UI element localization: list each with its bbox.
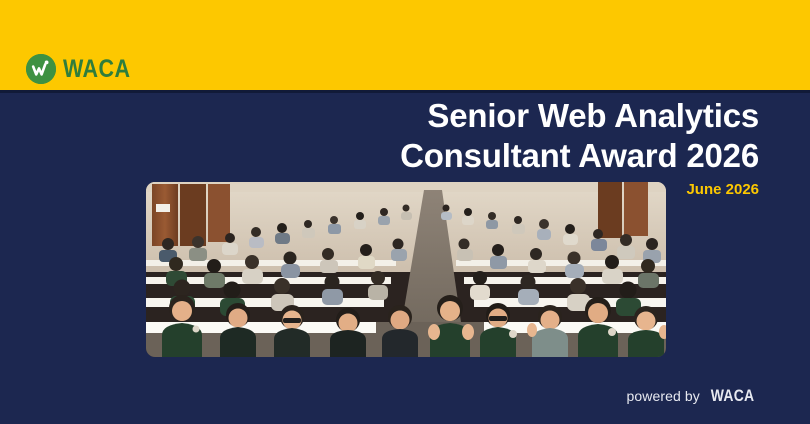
header-divider <box>0 90 810 93</box>
page-title-line-2: Consultant Award 2026 <box>239 136 759 176</box>
powered-by-label: powered by <box>626 389 699 403</box>
footer-brand-wordmark: WACA <box>711 387 755 404</box>
footer-credit: powered by WACA <box>626 387 759 404</box>
page-title-line-1: Senior Web Analytics <box>239 96 759 136</box>
brand-wordmark: WACA <box>63 57 130 82</box>
brand-logo[interactable]: WACA <box>26 54 141 84</box>
waca-circle-logo-icon <box>26 54 56 84</box>
group-photo <box>146 182 666 357</box>
award-poster: WACA Senior Web Analytics Consultant Awa… <box>0 0 810 424</box>
